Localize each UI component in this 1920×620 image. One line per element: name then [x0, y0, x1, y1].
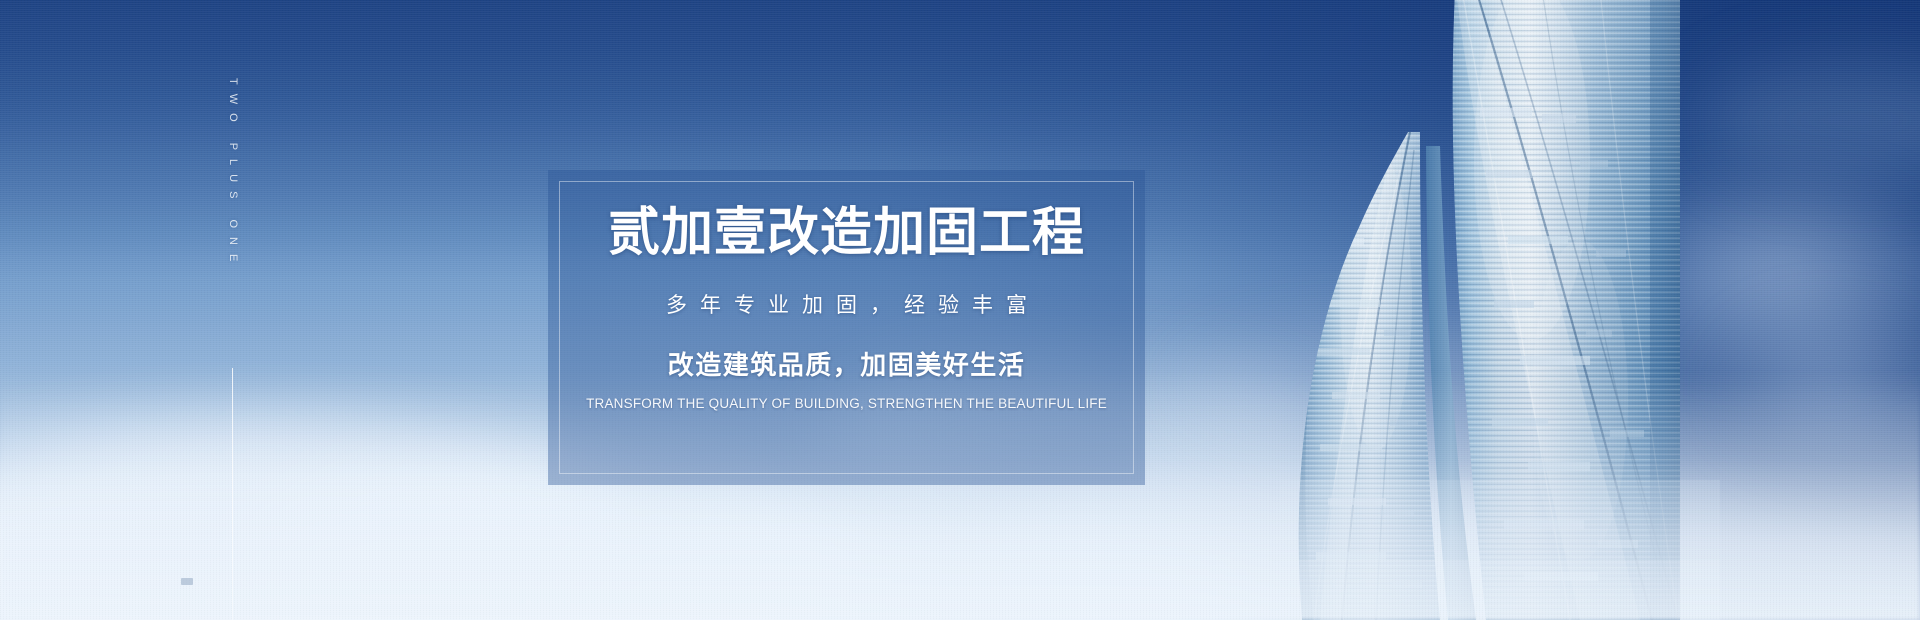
hero-tagline: 改造建筑品质，加固美好生活 — [548, 345, 1145, 382]
hero-english-subtitle: TRANSFORM THE QUALITY OF BUILDING, STREN… — [548, 396, 1145, 411]
corner-dash-mark — [181, 578, 193, 585]
vertical-brand-text: TWO PLUS ONE — [227, 78, 239, 270]
hero-banner: TWO PLUS ONE 贰加壹改造加固工程 多年专业加固，经验丰富 改造建筑品… — [0, 0, 1920, 620]
hero-text-panel: 贰加壹改造加固工程 多年专业加固，经验丰富 改造建筑品质，加固美好生活 TRAN… — [548, 170, 1145, 485]
page-title: 贰加壹改造加固工程 — [548, 206, 1145, 261]
hero-subline: 多年专业加固，经验丰富 — [548, 289, 1145, 319]
vertical-brand-mark: TWO PLUS ONE — [216, 78, 250, 318]
hero-text-content: 贰加壹改造加固工程 多年专业加固，经验丰富 改造建筑品质，加固美好生活 TRAN… — [548, 170, 1145, 411]
vertical-rule — [232, 368, 233, 620]
